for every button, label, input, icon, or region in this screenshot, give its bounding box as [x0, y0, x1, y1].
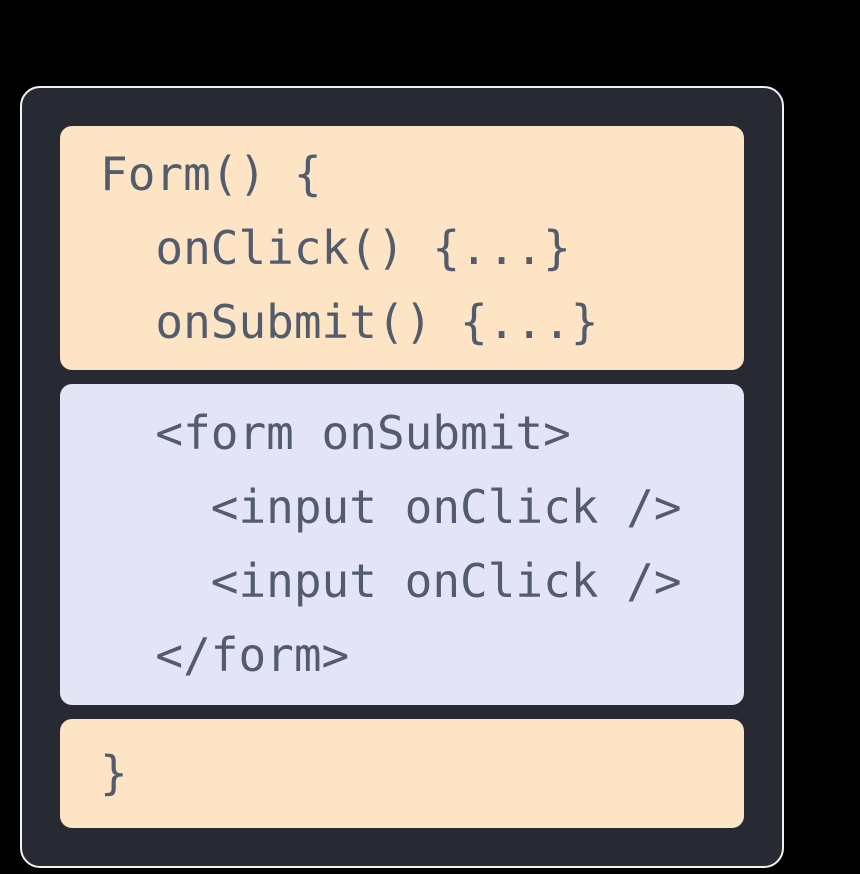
- code-block-component-head: Form() { onClick() {...} onSubmit() {...…: [60, 126, 744, 370]
- code-line: }: [60, 736, 744, 810]
- code-block-component-tail: }: [60, 719, 744, 828]
- code-line: <input onClick />: [60, 544, 744, 618]
- code-block-jsx-markup: <form onSubmit> <input onClick /> <input…: [60, 384, 744, 705]
- code-line: Form() {: [60, 137, 744, 211]
- code-line: <input onClick />: [60, 470, 744, 544]
- code-line: onClick() {...}: [60, 211, 744, 285]
- code-line: <form onSubmit>: [60, 396, 744, 470]
- diagram-canvas: Form() { onClick() {...} onSubmit() {...…: [0, 0, 860, 874]
- code-line: </form>: [60, 618, 744, 692]
- code-line: onSubmit() {...}: [60, 285, 744, 359]
- code-card: Form() { onClick() {...} onSubmit() {...…: [20, 86, 784, 868]
